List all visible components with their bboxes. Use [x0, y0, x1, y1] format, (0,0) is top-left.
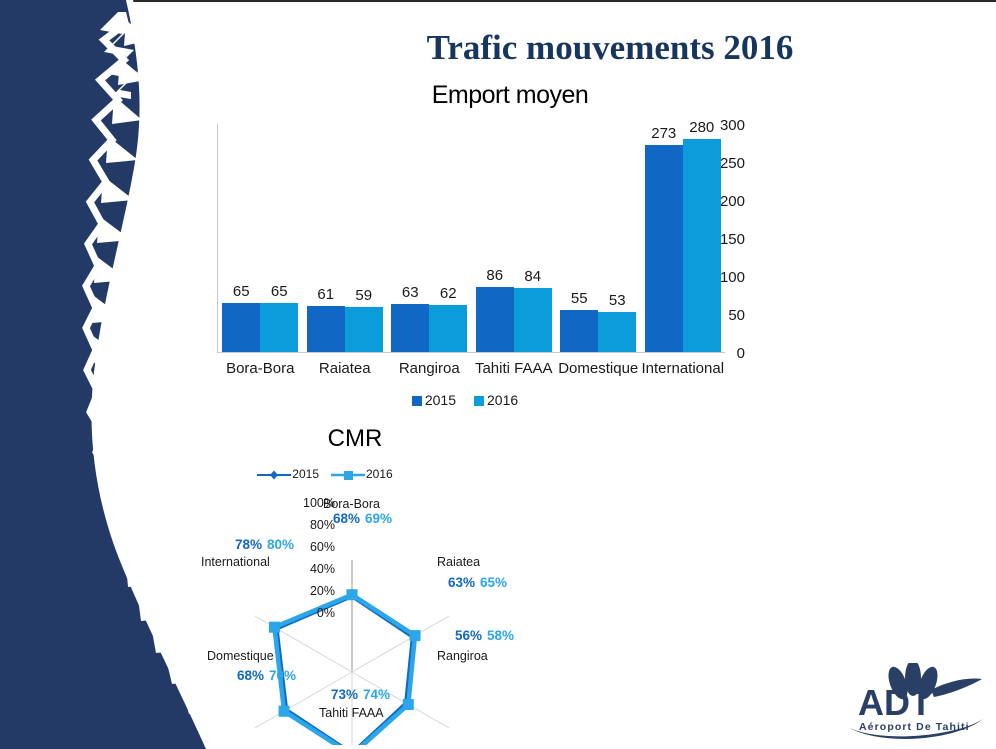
- radar-value-domestique: 68%70%: [237, 668, 296, 683]
- bar-2015-rangiroa: [391, 304, 429, 352]
- radar-chart: CMR 2015 2016 Bora-Bora Raiatea Rangiroa…: [175, 425, 595, 745]
- radar-tick-80: 80%: [284, 518, 335, 532]
- logo-tagline: Aéroport De Tahiti: [859, 721, 970, 733]
- bar-value-label: 59: [342, 287, 386, 304]
- legend-line-diamond-icon: [257, 469, 291, 481]
- radar-legend-label-2016: 2016: [366, 467, 393, 481]
- radar-value-tahiti-faaa: 73%74%: [331, 687, 390, 702]
- radar-legend-item-2016: 2016: [331, 467, 393, 481]
- radar-tick-0: 0%: [293, 606, 335, 620]
- slide-canvas: Trafic mouvements 2016 Emport moyen 300 …: [0, 0, 996, 749]
- radar-tick-100: 100%: [278, 496, 335, 510]
- radar-value-rangiroa: 56%58%: [455, 628, 514, 643]
- bar-2016-domestique: [598, 312, 636, 352]
- radar-tick-40: 40%: [284, 562, 335, 576]
- radar-legend-label-2015: 2015: [292, 467, 319, 481]
- radar-axis-label-rangiroa: Rangiroa: [437, 649, 488, 663]
- radar-value-international: 78%80%: [235, 537, 294, 552]
- page-title: Trafic mouvements 2016: [230, 28, 990, 68]
- bar-2016-rangiroa: [429, 305, 467, 352]
- legend-swatch-2016: [474, 396, 484, 406]
- logo-mark: ADT: [858, 682, 932, 723]
- bar-legend-label-2016: 2016: [487, 392, 518, 408]
- radar-marker-2016: [269, 622, 280, 633]
- bar-legend-label-2015: 2015: [425, 392, 456, 408]
- bar-2016-international: [683, 139, 721, 352]
- radar-legend: 2015 2016: [175, 467, 475, 481]
- adt-logo: ADT Aéroport De Tahiti: [836, 663, 986, 741]
- radar-marker-2016: [347, 589, 358, 600]
- bar-legend: 2015 2016: [185, 392, 745, 408]
- bar-chart-title: Emport moyen: [230, 81, 790, 110]
- radar-axis-label-international: International: [201, 555, 270, 569]
- radar-value-bora-bora: 68%69%: [333, 511, 392, 526]
- bar-2016-bora-bora: [260, 303, 298, 352]
- radar-value-raiatea: 63%65%: [448, 575, 507, 590]
- bar-2016-raiatea: [345, 307, 383, 352]
- radar-marker-2016: [410, 630, 421, 641]
- bar-category-label: International: [623, 360, 743, 377]
- radar-marker-2016: [279, 706, 290, 717]
- bar-2015-bora-bora: [222, 303, 260, 352]
- radar-axis-label-raiatea: Raiatea: [437, 555, 480, 569]
- bar-2015-international: [645, 145, 683, 352]
- radar-marker-2016: [403, 699, 414, 710]
- bar-value-label: 65: [257, 283, 301, 300]
- bar-legend-item-2015: 2015: [412, 392, 456, 408]
- legend-swatch-2015: [412, 396, 422, 406]
- bar-value-label: 53: [595, 292, 639, 309]
- bar-x-axis-line: [217, 352, 725, 353]
- legend-line-square-icon: [331, 469, 365, 481]
- radar-tick-20: 20%: [288, 584, 335, 598]
- bar-plot-area: 65656159636286845553273280: [218, 124, 725, 352]
- bar-value-label: 280: [680, 119, 724, 136]
- bar-2016-tahiti-faaa: [514, 288, 552, 352]
- radar-chart-title: CMR: [175, 425, 535, 453]
- radar-axis-label-tahiti-faaa: Tahiti FAAA: [319, 706, 384, 720]
- bar-2015-tahiti-faaa: [476, 287, 514, 352]
- bar-2015-domestique: [560, 310, 598, 352]
- bar-chart: 300 250 200 150 100 50 0 656561596362868…: [185, 118, 745, 418]
- radar-axis-label-domestique: Domestique: [207, 649, 274, 663]
- bar-value-label: 62: [426, 285, 470, 302]
- radar-legend-item-2015: 2015: [257, 467, 319, 481]
- bar-legend-item-2016: 2016: [474, 392, 518, 408]
- bar-value-label: 84: [511, 268, 555, 285]
- bar-2015-raiatea: [307, 306, 345, 352]
